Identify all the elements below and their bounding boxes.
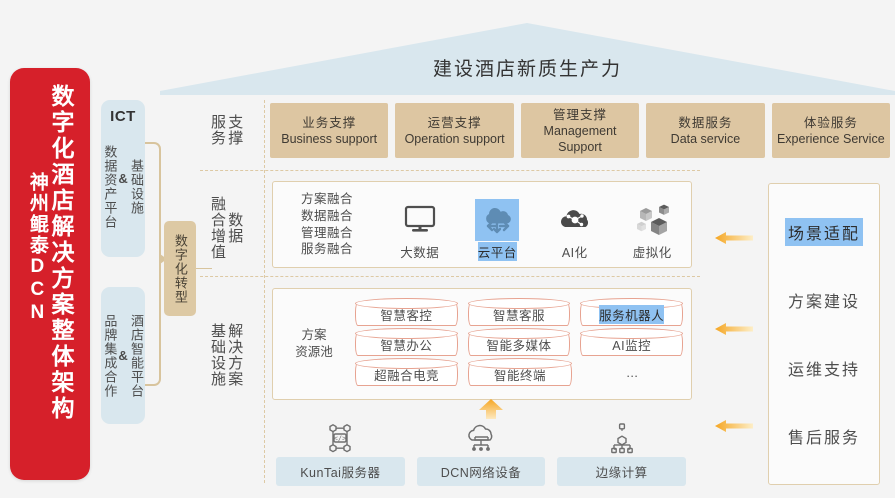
pool-item-multimedia-label: 智能多媒体 — [487, 335, 552, 354]
fusion-item-bigdata[interactable]: 大数据 — [387, 199, 453, 261]
resource-pool-grid: 智慧客控 智慧客服 服务机器人 智慧办公 智能多媒体 AI监控 超融合电竞 智能… — [355, 302, 691, 386]
row-label-fusion: 数据 融合增值 — [200, 192, 252, 264]
capability-ict-amp: & — [117, 171, 128, 186]
row-label-solution: 解决方案 基础设施 — [200, 300, 252, 410]
service-item-after-sales[interactable]: 售后服务 — [785, 422, 863, 450]
cloud-sync-icon — [475, 199, 519, 241]
resource-pool-panel: 方案资源池 智慧客控 智慧客服 服务机器人 智慧办公 智能多媒体 AI监控 超融… — [272, 288, 692, 400]
pool-item-smart-office[interactable]: 智慧办公 — [355, 332, 458, 356]
pool-item-more: … — [582, 362, 683, 384]
support-card-data[interactable]: 数据服务 Data service — [646, 103, 764, 158]
monitor-icon — [403, 199, 437, 241]
infrastructure-row: </> KunTai服务器 DCN网络设备 — [276, 422, 686, 484]
data-fusion-icons: 大数据 云平台 — [381, 182, 691, 267]
service-item-solution-build[interactable]: 方案建设 — [785, 286, 863, 314]
row-label-support-right: 支撑 — [226, 114, 243, 146]
cloud-network-icon — [461, 422, 501, 454]
capability-hotel-amp: & — [117, 348, 128, 363]
support-card-management-cn: 管理支撑 — [553, 107, 607, 123]
roof-banner: 建设酒店新质生产力 — [160, 23, 895, 95]
pool-item-smart-terminal[interactable]: 智能终端 — [468, 362, 571, 386]
capability-ict-head: ICT — [101, 108, 145, 125]
pool-item-smart-office-label: 智慧办公 — [380, 335, 432, 354]
infra-label-edge: 边缘计算 — [557, 457, 686, 486]
digital-transformation-badge[interactable]: 数字化转型 — [164, 221, 196, 316]
support-card-operation-cn: 运营支撑 — [428, 115, 482, 131]
support-services-row: 业务支撑 Business support 运营支撑 Operation sup… — [270, 103, 890, 158]
resource-pool-row: 智慧客控 智慧客服 服务机器人 — [355, 302, 683, 326]
support-card-operation-en: Operation support — [405, 131, 505, 147]
pool-item-service-robot-label: 服务机器人 — [599, 305, 664, 324]
infra-item-kuntai[interactable]: </> KunTai服务器 — [276, 422, 405, 484]
horizontal-divider-1 — [200, 170, 700, 171]
left-arrow-icon-1 — [714, 230, 754, 246]
pool-item-smart-service[interactable]: 智慧客服 — [468, 302, 571, 326]
badge-connector-line — [196, 268, 212, 269]
resource-pool-row: 智慧办公 智能多媒体 AI监控 — [355, 332, 683, 356]
pool-item-multimedia[interactable]: 智能多媒体 — [468, 332, 571, 356]
row-label-solution-right: 解决方案 — [226, 323, 243, 387]
capability-hotel-right: 酒店智能平台 — [129, 314, 144, 398]
title-block: 数字化酒店解决方案整体架构 神州鲲泰DCN — [10, 68, 90, 480]
support-card-experience-cn: 体验服务 — [804, 115, 858, 131]
digital-transformation-label: 数字化转型 — [173, 234, 187, 304]
cubes-icon — [634, 199, 670, 241]
service-item-ops-support[interactable]: 运维支持 — [785, 354, 863, 382]
page-title: 数字化酒店解决方案整体架构 — [49, 84, 73, 422]
service-item-scene-adaptation[interactable]: 场景适配 — [785, 218, 863, 246]
right-services-panel: 场景适配 方案建设 运维支持 售后服务 — [768, 183, 880, 485]
svg-text:</>: </> — [334, 434, 347, 442]
support-card-experience-en: Experience Service — [777, 131, 885, 147]
page-subtitle: 神州鲲泰DCN — [27, 172, 47, 325]
pool-item-smart-control[interactable]: 智慧客控 — [355, 302, 458, 326]
infra-item-edge[interactable]: 边缘计算 — [557, 422, 686, 484]
fusion-label-cloud: 云平台 — [478, 242, 517, 261]
infra-label-kuntai: KunTai服务器 — [276, 457, 405, 486]
resource-pool-row: 超融合电竞 智能终端 … — [355, 362, 683, 386]
row-label-fusion-right: 数据 — [226, 212, 243, 244]
pool-item-smart-control-label: 智慧客控 — [380, 305, 432, 324]
up-arrow-icon — [471, 398, 511, 425]
row-label-support-left: 服务 — [209, 114, 226, 146]
pool-item-more-label: … — [626, 366, 639, 380]
capability-box-ict[interactable]: ICT 基础设施 & 数据资产平台 — [101, 100, 145, 257]
server-mesh-icon: </> — [323, 422, 357, 454]
left-arrow-icon-3 — [714, 418, 754, 434]
support-card-data-cn: 数据服务 — [678, 115, 732, 131]
fusion-label-virtual: 虚拟化 — [633, 242, 672, 261]
roof-title: 建设酒店新质生产力 — [160, 23, 895, 95]
fusion-item-ai[interactable]: AI化 — [542, 199, 608, 261]
capability-hotel-left: 品牌集成合作 — [102, 314, 117, 398]
capability-ict-right: 基础设施 — [129, 159, 144, 215]
pool-item-ai-monitor[interactable]: AI监控 — [580, 332, 683, 356]
pool-item-smart-terminal-label: 智能终端 — [494, 365, 546, 384]
row-label-fusion-left: 融合增值 — [209, 196, 226, 260]
row-label-support: 支撑 服务 — [200, 104, 252, 156]
support-card-business[interactable]: 业务支撑 Business support — [270, 103, 388, 158]
support-card-data-en: Data service — [671, 131, 740, 147]
resource-pool-label: 方案资源池 — [273, 327, 355, 362]
horizontal-divider-2 — [200, 276, 700, 277]
pool-item-hci-esports[interactable]: 超融合电竞 — [355, 362, 458, 386]
fusion-label-bigdata: 大数据 — [400, 242, 439, 261]
pool-item-hci-esports-label: 超融合电竞 — [374, 365, 439, 384]
support-card-management[interactable]: 管理支撑 Management Support — [521, 103, 639, 158]
support-card-experience[interactable]: 体验服务 Experience Service — [772, 103, 890, 158]
ai-cloud-icon — [556, 199, 594, 241]
support-card-operation[interactable]: 运营支撑 Operation support — [395, 103, 513, 158]
support-card-business-cn: 业务支撑 — [302, 115, 356, 131]
left-arrow-icon-2 — [714, 321, 754, 337]
capability-box-hotel[interactable]: 酒店智能平台 & 品牌集成合作 — [101, 287, 145, 424]
fusion-item-virtual[interactable]: 虚拟化 — [619, 199, 685, 261]
architecture-diagram: 数字化酒店解决方案整体架构 神州鲲泰DCN 建设酒店新质生产力 ICT 基础设施… — [0, 0, 895, 498]
fusion-label-ai: AI化 — [562, 242, 588, 261]
row-label-solution-left: 基础设施 — [209, 323, 226, 387]
capability-bracket — [145, 142, 161, 386]
pool-item-smart-service-label: 智慧客服 — [493, 305, 545, 324]
infra-item-dcn[interactable]: DCN网络设备 — [417, 422, 546, 484]
support-card-business-en: Business support — [281, 131, 377, 147]
vertical-divider — [264, 100, 265, 483]
edge-node-icon — [605, 422, 639, 454]
pool-item-ai-monitor-label: AI监控 — [612, 335, 651, 354]
infra-label-dcn: DCN网络设备 — [417, 457, 546, 486]
data-fusion-text: 方案融合数据融合管理融合服务融合 — [273, 191, 381, 259]
fusion-item-cloud[interactable]: 云平台 — [464, 199, 530, 261]
data-fusion-panel: 方案融合数据融合管理融合服务融合 大数据 — [272, 181, 692, 268]
support-card-management-en: Management Support — [523, 123, 637, 155]
pool-item-service-robot[interactable]: 服务机器人 — [580, 302, 683, 326]
capability-ict-left: 数据资产平台 — [102, 145, 117, 229]
